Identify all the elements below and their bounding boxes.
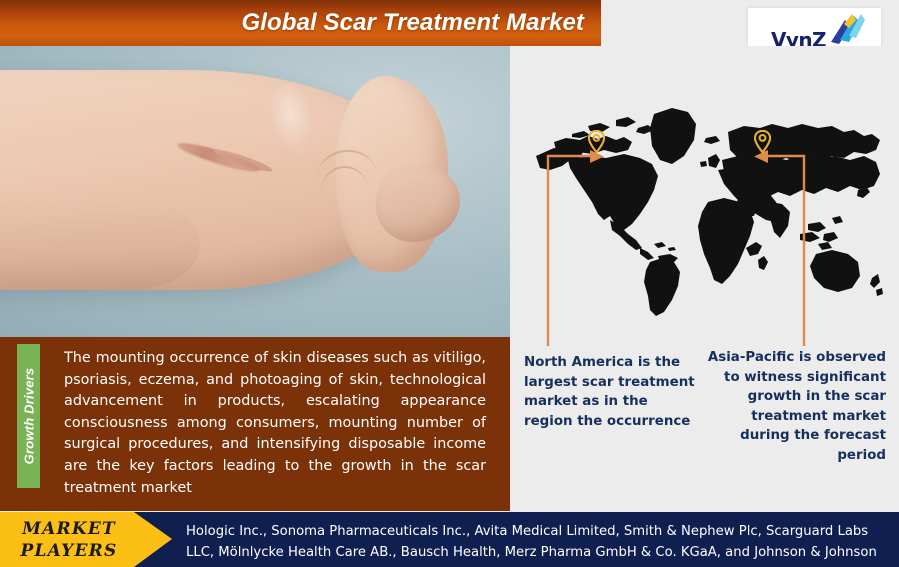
market-players-list: Hologic Inc., Sonoma Pharmaceuticals Inc…	[186, 521, 883, 563]
map-pin-asia-pacific[interactable]	[754, 130, 771, 153]
growth-drivers-panel: Growth Drivers The mounting occurrence o…	[0, 337, 510, 511]
header-bar: Global Scar Treatment Market	[0, 0, 601, 46]
page-title: Global Scar Treatment Market	[242, 9, 584, 37]
map-panel: North America is the largest scar treatm…	[510, 46, 899, 511]
world-map	[532, 98, 884, 316]
map-pin-north-america[interactable]	[588, 130, 605, 153]
infographic-page: Global Scar Treatment Market VynZ Resear…	[0, 0, 899, 567]
growth-drivers-tab: Growth Drivers	[17, 344, 40, 488]
wrist-shading	[0, 198, 200, 290]
growth-drivers-tab-label: Growth Drivers	[21, 368, 36, 465]
caption-asia-pacific: Asia-Pacific is observed to witness sign…	[706, 348, 886, 465]
growth-drivers-text: The mounting occurrence of skin diseases…	[64, 348, 486, 499]
market-players-bar: MARKET PLAYERS Hologic Inc., Sonoma Phar…	[0, 512, 899, 567]
logo-arrows-icon	[825, 12, 865, 44]
market-players-badge-line1: MARKET	[8, 519, 130, 539]
market-players-badge-line2: PLAYERS	[8, 541, 130, 561]
market-players-badge: MARKET PLAYERS	[0, 512, 172, 567]
caption-north-america: North America is the largest scar treatm…	[524, 353, 700, 431]
hero-photo	[0, 46, 510, 337]
